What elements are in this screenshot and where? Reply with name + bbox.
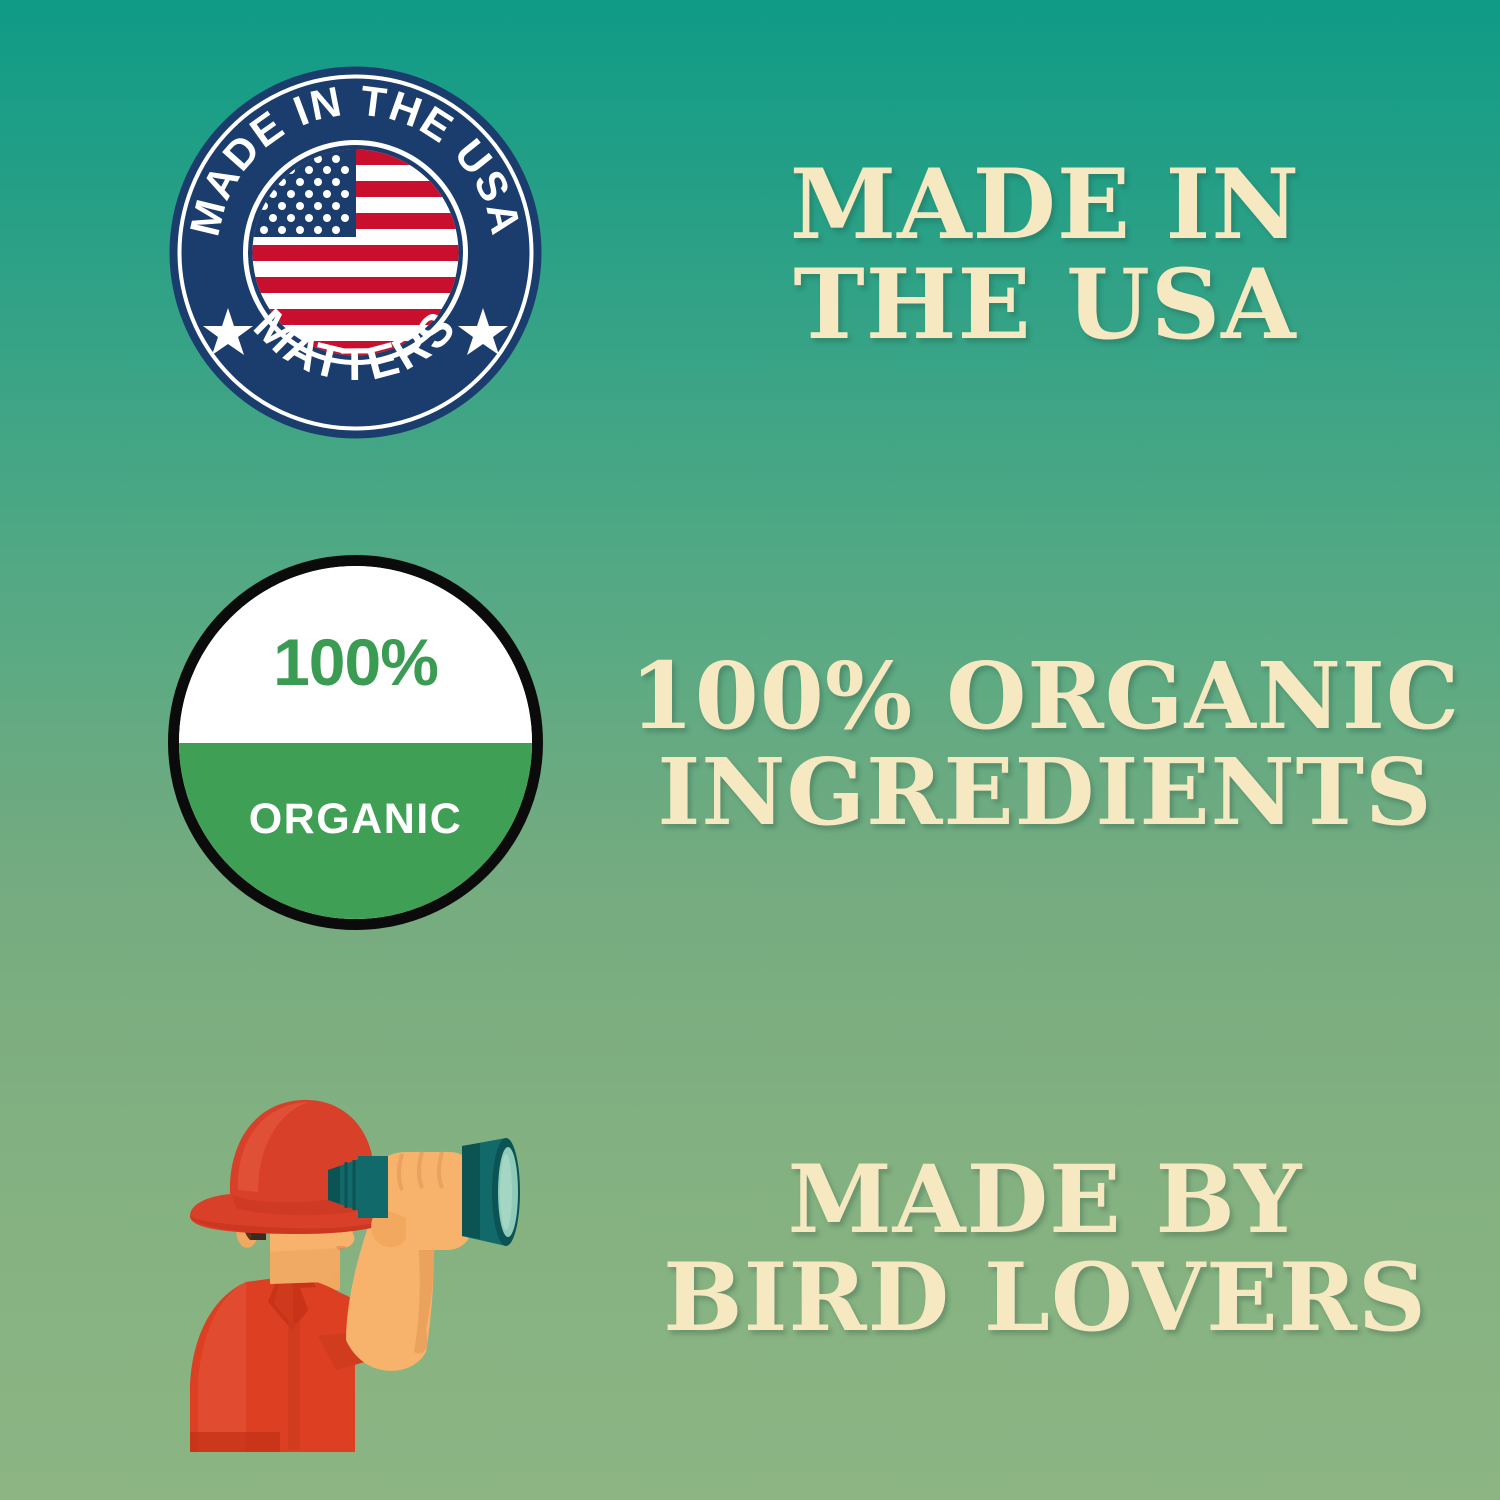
organic-badge-bottom-half: ORGANIC xyxy=(179,743,532,920)
headline-organic-ingredients: 100% ORGANIC INGREDIENTS xyxy=(630,649,1460,840)
headline-line: THE USA xyxy=(790,255,1300,355)
headline-made-in-usa: MADE IN THE USA xyxy=(790,155,1300,355)
organic-badge-column: 100% ORGANIC xyxy=(0,530,620,960)
organic-badge-top-half: 100% xyxy=(179,566,532,743)
headline-line: BIRD LOVERS xyxy=(663,1250,1427,1348)
headline-line: MADE BY xyxy=(663,1152,1427,1250)
headline-line: MADE IN xyxy=(790,155,1300,255)
feature-infographic-poster: MADE IN THE USA MATTERS MADE IN THE USA … xyxy=(0,0,1500,1500)
bird-lovers-text-column: MADE BY BIRD LOVERS xyxy=(620,1030,1500,1470)
birdwatcher-column xyxy=(0,1030,620,1470)
birdwatcher-illustration-icon xyxy=(150,1040,570,1470)
made-in-usa-seal-icon: MADE IN THE USA MATTERS xyxy=(168,65,543,440)
organic-badge-icon: 100% ORGANIC xyxy=(168,555,543,930)
made-in-usa-text-column: MADE IN THE USA xyxy=(620,40,1500,470)
organic-word-label: ORGANIC xyxy=(249,795,463,844)
headline-line: 100% ORGANIC xyxy=(630,649,1460,745)
organic-percent-label: 100% xyxy=(273,624,438,700)
feature-row-made-in-usa: MADE IN THE USA MATTERS MADE IN THE USA xyxy=(0,40,1500,470)
usa-badge-column: MADE IN THE USA MATTERS xyxy=(0,40,620,470)
feature-row-organic: 100% ORGANIC 100% ORGANIC INGREDIENTS xyxy=(0,530,1500,960)
organic-text-column: 100% ORGANIC INGREDIENTS xyxy=(620,530,1500,960)
headline-made-by-bird-lovers: MADE BY BIRD LOVERS xyxy=(663,1152,1427,1348)
headline-line: INGREDIENTS xyxy=(630,745,1460,841)
feature-row-bird-lovers: MADE BY BIRD LOVERS xyxy=(0,1030,1500,1470)
